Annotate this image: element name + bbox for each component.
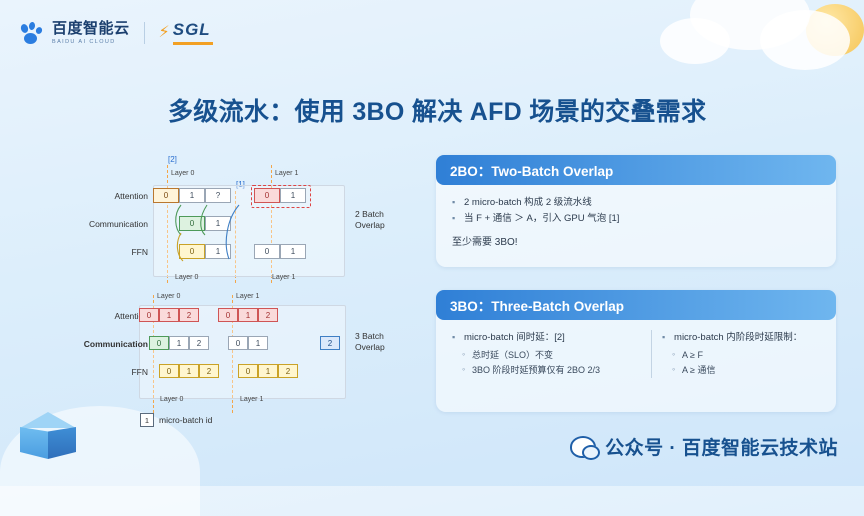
dependency-arrows-top (153, 185, 323, 265)
card-3bo-body: micro-batch 间时延：[2] 总时延（SLO）不变 3BO 阶段时延预… (436, 320, 836, 388)
layer-caption-bottom-0: Layer 0 (160, 396, 183, 403)
block-communication: 0 (149, 336, 169, 350)
sgl-logo: ⚡ SGL (159, 20, 213, 45)
block-attention: 1 (159, 308, 179, 322)
list-item: 当 F + 通信 ＞ A，引入 GPU 气泡 [1] (452, 211, 822, 227)
row-label-ffn-bottom: FFN (80, 367, 148, 377)
block-communication: 1 (169, 336, 189, 350)
lightning-bolt-icon: ⚡ (159, 25, 170, 41)
group-label-2batch-line1: 2 Batch (355, 209, 384, 219)
group-label-3batch-line2: Overlap (355, 342, 385, 352)
logo-divider (144, 22, 145, 44)
page-title: 多级流水：使用 3BO 解决 AFD 场景的交叠需求 (168, 92, 706, 128)
block-attention: 0 (139, 308, 159, 322)
block-communication: 1 (248, 336, 268, 350)
block-ffn: 1 (179, 364, 199, 378)
legend-key-box: 1 (140, 413, 154, 427)
list-item: 2 micro-batch 构成 2 级流水线 (452, 195, 822, 211)
block-attention: 2 (179, 308, 199, 322)
baidu-paw-icon (20, 22, 42, 44)
baidu-logo-tagline: BAIDU AI CLOUD (52, 39, 130, 45)
row-label-attention-bottom: Attention (80, 311, 148, 321)
block-attention: 2 (258, 308, 278, 322)
column-divider (651, 330, 652, 378)
block-communication: 0 (228, 336, 248, 350)
layer-label-bottom-0: Layer 0 (157, 293, 180, 300)
cube-decoration (20, 412, 76, 470)
row-label-ffn-top: FFN (80, 247, 148, 257)
baidu-logo-text: 百度智能云 (52, 21, 130, 36)
wechat-icon (570, 436, 596, 458)
block-ffn: 1 (258, 364, 278, 378)
row-label-communication-bottom: Communication (58, 339, 148, 349)
layer-label-bottom-1: Layer 1 (236, 293, 259, 300)
block-ffn: 0 (238, 364, 258, 378)
layer-caption-bottom-1: Layer 1 (240, 396, 263, 403)
list-item: micro-batch 内阶段时延限制： (662, 330, 822, 346)
card-2bo: 2BO：Two-Batch Overlap 2 micro-batch 构成 2… (436, 155, 836, 267)
card-2bo-body: 2 micro-batch 构成 2 级流水线 当 F + 通信 ＞ A，引入 … (436, 185, 836, 258)
pipeline-diagram: [2] [1] Layer 0 Layer 1 Attention Commun… (120, 155, 420, 420)
list-item: A ≥ F (672, 348, 822, 363)
layer-caption-top-0: Layer 0 (175, 274, 198, 281)
cloud-decoration (760, 10, 850, 70)
row-label-attention-top: Attention (80, 191, 148, 201)
brand-logo-bar: 百度智能云 BAIDU AI CLOUD ⚡ SGL (20, 20, 213, 45)
footer-text: 公众号 · 百度智能云技术站 (605, 433, 838, 460)
cloud-decoration (660, 18, 730, 64)
card-3bo-heading: 3BO：Three-Batch Overlap (436, 290, 836, 320)
row-label-communication-top: Communication (58, 219, 148, 229)
footer: 公众号 · 百度智能云技术站 (570, 433, 838, 460)
block-communication: 2 (320, 336, 340, 350)
list-item: micro-batch 间时延：[2] (452, 330, 641, 346)
block-communication: 2 (189, 336, 209, 350)
layer-label-top-1: Layer 1 (275, 170, 298, 177)
group-label-2batch-line2: Overlap (355, 220, 385, 230)
list-item: 3BO 阶段时延预算仅有 2BO 2/3 (462, 363, 641, 378)
group-label-2batch: 2 Batch Overlap (355, 209, 385, 231)
legend-label: micro-batch id (159, 415, 212, 425)
list-item: 总时延（SLO）不变 (462, 348, 641, 363)
block-attention: 0 (218, 308, 238, 322)
legend: 1 micro-batch id (140, 413, 212, 427)
layer-caption-top-1: Layer 1 (272, 274, 295, 281)
card-3bo: 3BO：Three-Batch Overlap micro-batch 间时延：… (436, 290, 836, 412)
sgl-logo-text: SGL (173, 20, 213, 40)
block-attention: 1 (238, 308, 258, 322)
sgl-underline (173, 42, 213, 45)
layer-label-top-0: Layer 0 (171, 170, 194, 177)
block-ffn: 2 (199, 364, 219, 378)
block-ffn: 2 (278, 364, 298, 378)
reference-marker-2: [2] (168, 155, 177, 164)
list-item: A ≥ 通信 (672, 363, 822, 378)
card-2bo-note: 至少需要 3BO! (452, 233, 822, 248)
group-label-3batch-line1: 3 Batch (355, 331, 384, 341)
block-ffn: 0 (159, 364, 179, 378)
card-2bo-heading: 2BO：Two-Batch Overlap (436, 155, 836, 185)
group-label-3batch: 3 Batch Overlap (355, 331, 385, 353)
